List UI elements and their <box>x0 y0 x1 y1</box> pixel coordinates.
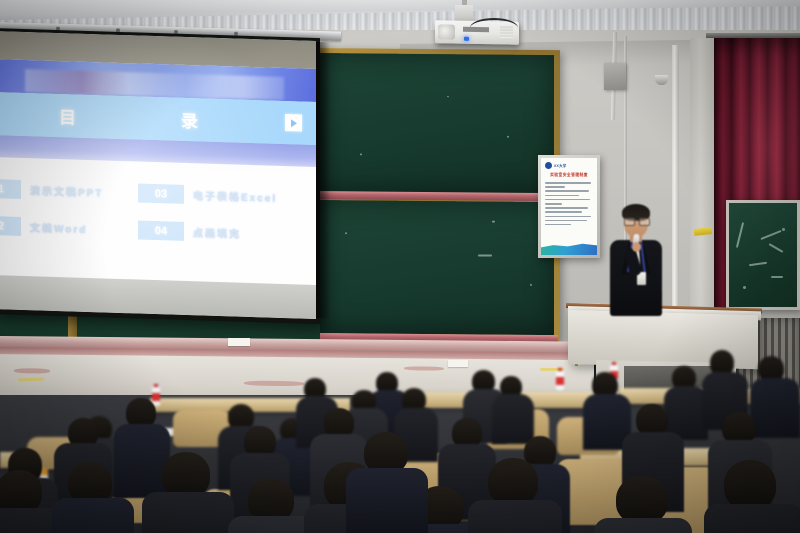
slide-toc-list: 01 演示文稿PPT 03 电子表格Excel 02 文档Word 04 <box>0 179 295 245</box>
poster-wave-graphic <box>541 239 597 255</box>
water-bottle <box>152 384 160 406</box>
projector-lens-icon <box>438 24 455 39</box>
blackboard-panel-lower <box>317 200 554 335</box>
blackboard-panel-upper <box>317 53 554 194</box>
wall-pipe <box>672 45 679 335</box>
chalk-tray-paper <box>228 338 250 346</box>
university-logo-icon <box>545 162 552 169</box>
poster-header: XX大学 <box>541 158 597 169</box>
slide-title-char-1: 目 <box>59 103 77 129</box>
water-bottle <box>556 368 564 390</box>
projector-vent <box>500 26 513 39</box>
slide-title-char-2: 录 <box>181 107 199 133</box>
lecture-hall-photo: 目 录 01 演示文稿PPT 03 电子 <box>0 0 800 533</box>
screen-cast-shadow <box>316 42 330 318</box>
presenter-hand <box>632 242 641 252</box>
projection-screen: 目 录 01 演示文稿PPT 03 电子 <box>0 28 320 324</box>
slide-next-button[interactable] <box>285 114 302 132</box>
toc-label: 文档Word <box>30 219 87 236</box>
chalk-tray-paper <box>448 360 468 367</box>
notice-board-frame: XX大学 实验室安全管理制度 <box>538 155 600 258</box>
toc-number: 01 <box>0 179 21 199</box>
wall-pillar <box>690 38 716 338</box>
poster-university-name: XX大学 <box>554 163 567 168</box>
toc-label: 点画填充 <box>193 224 241 240</box>
notice-poster: XX大学 实验室安全管理制度 <box>541 158 597 255</box>
blackboard-right <box>726 200 800 310</box>
presenter <box>604 198 668 316</box>
toc-item: 02 文档Word <box>0 216 132 240</box>
projector-mount <box>455 5 473 22</box>
presentation-slide: 目 录 01 演示文稿PPT 03 电子 <box>0 59 316 293</box>
glasses-icon <box>624 218 648 224</box>
toc-item: 03 电子表格Excel <box>138 184 295 208</box>
toc-number: 02 <box>0 216 21 236</box>
blackboard-center <box>312 48 560 342</box>
projector-power-led <box>464 37 469 41</box>
slide-body: 01 演示文稿PPT 03 电子表格Excel 02 文档Word 04 <box>0 163 316 293</box>
play-arrow-icon <box>291 119 297 127</box>
toc-number: 03 <box>138 184 184 204</box>
wall-junction-box <box>604 63 626 90</box>
toc-label: 电子表格Excel <box>193 187 277 205</box>
toc-item: 01 演示文稿PPT <box>0 179 132 203</box>
toc-label: 演示文稿PPT <box>30 182 103 199</box>
poster-body-text <box>541 178 597 225</box>
screen-surface: 目 录 01 演示文稿PPT 03 电子 <box>0 31 316 319</box>
toc-item: 04 点画填充 <box>138 221 295 245</box>
toc-number: 04 <box>138 221 184 241</box>
